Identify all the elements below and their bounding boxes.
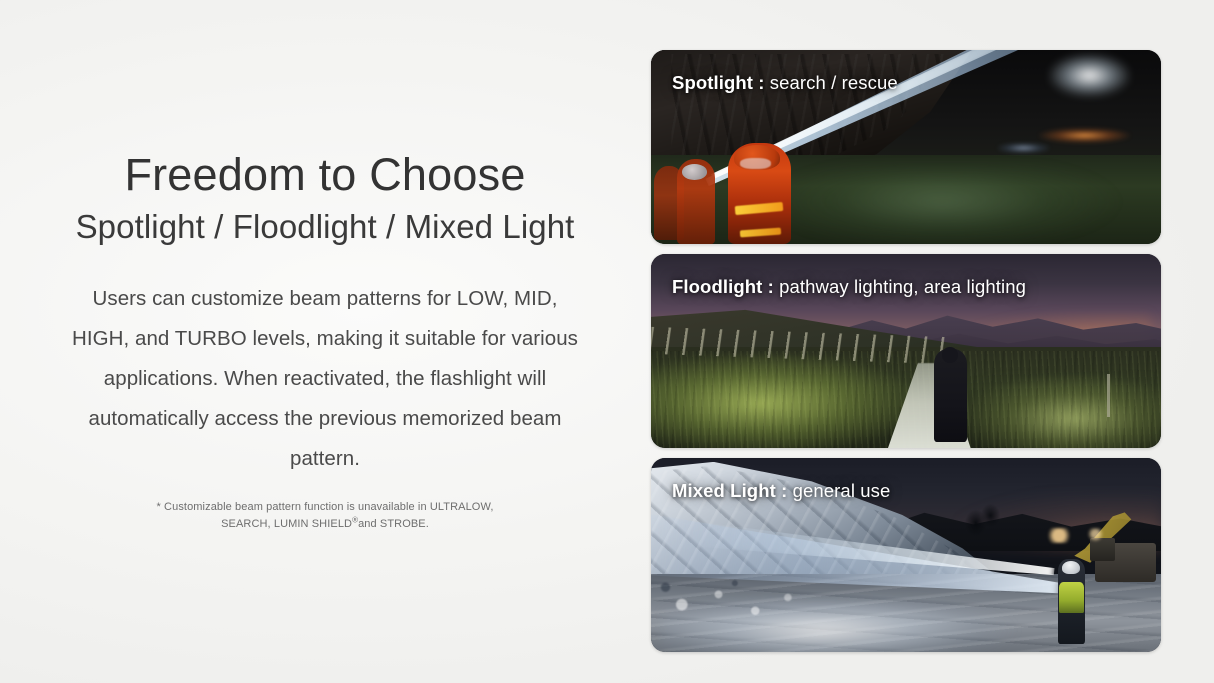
caption-lead: Floodlight :	[672, 276, 774, 297]
caption-rest: search / rescue	[765, 72, 898, 93]
card-caption-floodlight: Floodlight : pathway lighting, area ligh…	[672, 276, 1026, 298]
caption-lead: Mixed Light :	[672, 480, 787, 501]
page-title: Freedom to Choose	[40, 150, 610, 200]
card-floodlight[interactable]: Floodlight : pathway lighting, area ligh…	[651, 254, 1161, 448]
footnote-line-2-post: and STROBE.	[358, 518, 429, 530]
caption-lead: Spotlight :	[672, 72, 765, 93]
caption-rest: general use	[787, 480, 890, 501]
beam-mode-card-list: Spotlight : search / rescue Floodlight :…	[651, 50, 1161, 652]
marketing-text-column: Freedom to Choose Spotlight / Floodlight…	[40, 150, 610, 533]
footnote: * Customizable beam pattern function is …	[115, 499, 535, 533]
card-spotlight[interactable]: Spotlight : search / rescue	[651, 50, 1161, 244]
body-paragraph: Users can customize beam patterns for LO…	[69, 279, 581, 479]
footnote-line-2-pre: SEARCH, LUMIN SHIELD	[221, 518, 352, 530]
card-caption-mixed-light: Mixed Light : general use	[672, 480, 890, 502]
person-figure	[934, 349, 967, 442]
page-subtitle: Spotlight / Floodlight / Mixed Light	[40, 206, 610, 249]
caption-rest: pathway lighting, area lighting	[774, 276, 1026, 297]
footnote-line-1: * Customizable beam pattern function is …	[157, 501, 494, 513]
card-mixed-light[interactable]: Mixed Light : general use	[651, 458, 1161, 652]
card-caption-spotlight: Spotlight : search / rescue	[672, 72, 898, 94]
